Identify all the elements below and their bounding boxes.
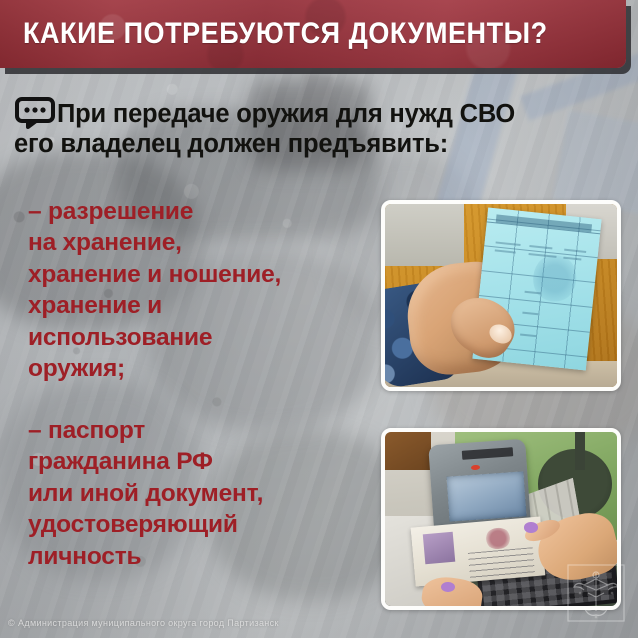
bullet-2-line-1: – паспорт: [28, 415, 378, 446]
page-title: КАКИЕ ПОТРЕБУЮТСЯ ДОКУМЕНТЫ?: [23, 17, 548, 51]
copyright-symbol: ©: [8, 618, 15, 628]
poster-root: КАКИЕ ПОТРЕБУЮТСЯ ДОКУМЕНТЫ? При передач…: [0, 0, 638, 638]
bullet-1-line-4: хранение и: [28, 290, 378, 321]
speech-bubble-dots-icon: [14, 96, 56, 129]
bullet-1-line-2: на хранение,: [28, 227, 378, 258]
bullet-1-line-6: оружия;: [28, 353, 378, 384]
bullet-1-line-3: хранение и ношение,: [28, 259, 378, 290]
bullet-2-line-5: личность: [28, 541, 378, 572]
photo-permit: [381, 200, 621, 391]
intro-text: При передаче оружия для нужд СВО его вла…: [14, 96, 624, 159]
intro-line-2: его владелец должен предъявить:: [14, 130, 448, 158]
bullet-2-line-2: гражданина РФ: [28, 446, 378, 477]
bullet-1-line-5: использование: [28, 322, 378, 353]
list-item: – паспорт гражданина РФ или иной докумен…: [28, 415, 378, 572]
list-item: – разрешение на хранение, хранение и нош…: [28, 196, 378, 385]
header-banner: КАКИЕ ПОТРЕБУЮТСЯ ДОКУМЕНТЫ?: [0, 0, 626, 68]
copyright-caption: ©Администрация муниципального округа гор…: [8, 618, 279, 628]
requirements-list: – разрешение на хранение, хранение и нош…: [28, 196, 378, 572]
bullet-2-line-4: удостоверяющий: [28, 509, 378, 540]
intro-line-1: При передаче оружия для нужд СВО: [57, 100, 515, 128]
copyright-text: Администрация муниципального округа горо…: [18, 618, 279, 628]
bullet-2-line-3: или иной документ,: [28, 478, 378, 509]
bullet-1-line-1: – разрешение: [28, 196, 378, 227]
photo-passport: [381, 428, 621, 610]
